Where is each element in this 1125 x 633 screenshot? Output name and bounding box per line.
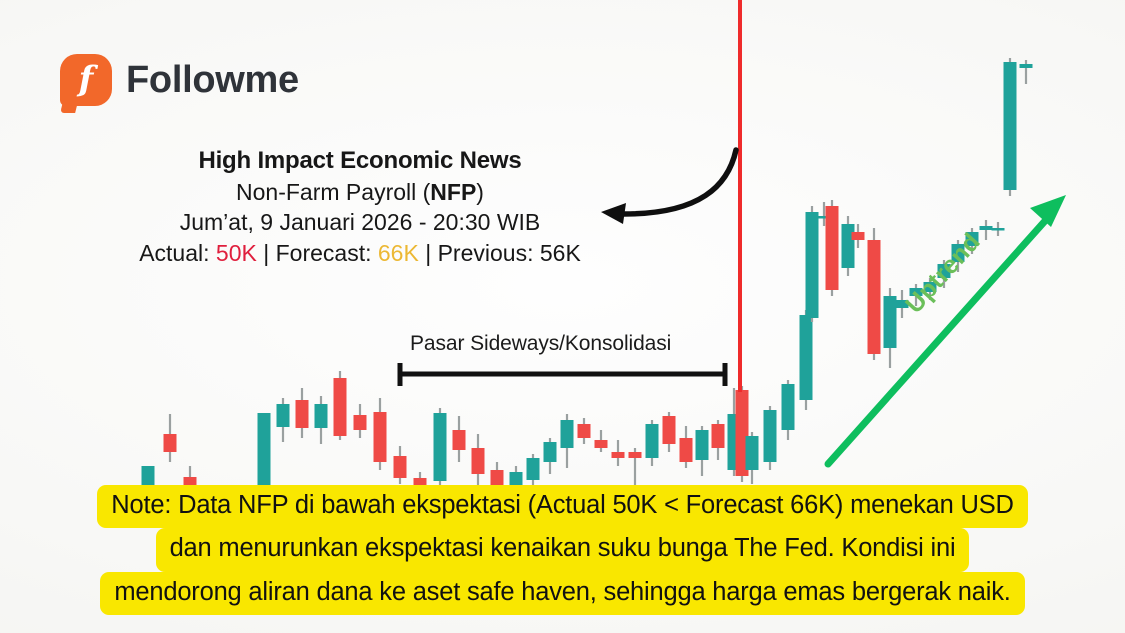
candle-bullish (1004, 62, 1017, 190)
figures-separator-2: | (419, 240, 438, 266)
candle-bullish (806, 212, 819, 318)
logo-letter: f (60, 54, 112, 106)
candle-bullish (992, 228, 1005, 231)
brand-name: Followme (126, 59, 299, 102)
candle-bearish (612, 452, 625, 458)
candle-bullish (842, 224, 855, 268)
candle-bullish (782, 384, 795, 430)
forecast-value: 66K (378, 240, 419, 266)
figures-separator-1: | (257, 240, 276, 266)
candle-bullish (764, 410, 777, 462)
candle-bearish (595, 440, 608, 448)
note-line: dan menurunkan ekspektasi kenaikan suku … (156, 528, 970, 571)
candle-bearish (868, 240, 881, 354)
consolidation-label: Pasar Sideways/Konsolidasi (410, 332, 671, 356)
candle-bearish (453, 430, 466, 450)
candle-bullish (434, 413, 447, 481)
previous-value: 56K (540, 240, 581, 266)
news-figures: Actual: 50K | Forecast: 66K | Previous: … (105, 238, 615, 269)
note-line: Note: Data NFP di bawah ekspektasi (Actu… (97, 485, 1027, 528)
candle-bullish (527, 458, 540, 480)
candle-bearish (578, 424, 591, 438)
candle-bullish (696, 430, 709, 460)
candle-bearish (374, 412, 387, 462)
news-headline: High Impact Economic News (105, 146, 615, 177)
actual-label: Actual: (139, 240, 216, 266)
candle-bearish (712, 424, 725, 448)
news-event: Non-Farm Payroll (NFP) (105, 177, 615, 208)
news-event-prefix: Non-Farm Payroll ( (236, 179, 430, 205)
poster-canvas: f Followme High Impact Economic News Non… (0, 0, 1125, 633)
candle-bullish (980, 226, 993, 230)
candle-bearish (394, 456, 407, 478)
candle-bullish (277, 404, 290, 427)
candle-bearish (164, 434, 177, 452)
candle-bearish (354, 415, 367, 430)
candle-bearish (852, 232, 865, 240)
news-datetime: Jum’at, 9 Januari 2026 - 20:30 WIB (105, 207, 615, 238)
candle-bearish (472, 448, 485, 474)
candle-bullish (544, 442, 557, 462)
news-pointer-arrow (601, 150, 736, 224)
candle-bullish (800, 315, 813, 400)
candle-bearish (629, 452, 642, 458)
brand-logo: f Followme (60, 54, 299, 106)
candle-bullish (1020, 64, 1033, 68)
news-event-suffix: ) (476, 179, 484, 205)
candle-bearish (296, 400, 309, 428)
candle-bearish (680, 438, 693, 462)
candle-bullish (746, 436, 759, 470)
previous-label: Previous: (438, 240, 540, 266)
candle-bearish (663, 416, 676, 444)
candle-bullish (315, 404, 328, 428)
news-callout: High Impact Economic News Non-Farm Payro… (105, 146, 615, 268)
candle-bullish (561, 420, 574, 448)
candle-bearish (334, 378, 347, 436)
note-line: mendorong aliran dana ke aset safe haven… (100, 572, 1024, 615)
candle-bullish (646, 424, 659, 458)
actual-value: 50K (216, 240, 257, 266)
candle-bearish (826, 206, 839, 290)
consolidation-bracket (399, 363, 726, 386)
candle-bullish (884, 296, 897, 348)
forecast-label: Forecast: (276, 240, 378, 266)
news-event-abbr: NFP (430, 179, 476, 205)
followme-logo-icon: f (60, 54, 112, 106)
note-banner: Note: Data NFP di bawah ekspektasi (Actu… (0, 485, 1125, 615)
